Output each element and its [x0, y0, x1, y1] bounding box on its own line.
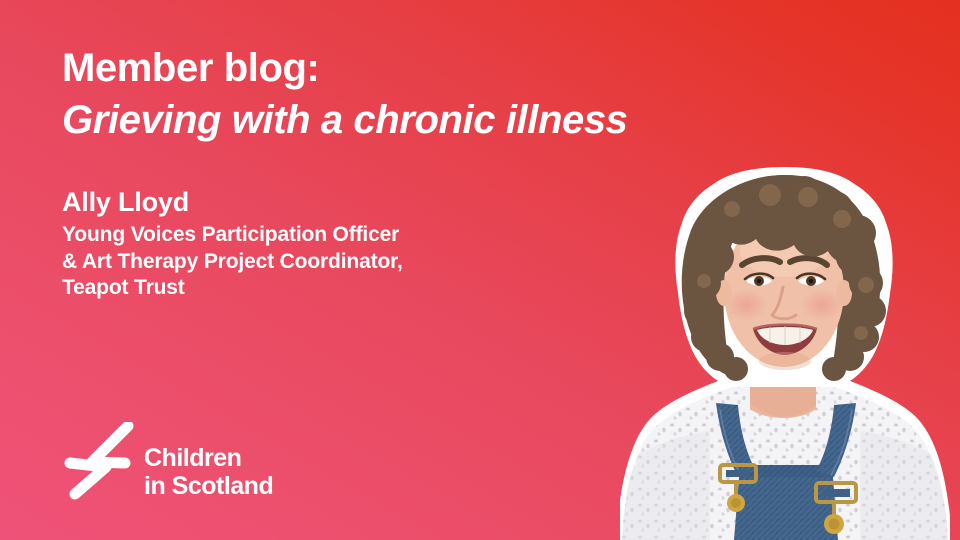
portrait-curly-hair — [684, 175, 886, 381]
logo-wordmark: Children in Scotland — [144, 446, 273, 499]
author-role-line1: Young Voices Participation Officer — [62, 222, 702, 249]
author-name: Ally Lloyd — [62, 187, 702, 218]
author-role-line2: & Art Therapy Project Coordinator, — [62, 249, 702, 276]
portrait-body — [620, 380, 950, 540]
page-title-line2: Grieving with a chronic illness — [62, 98, 702, 143]
text-block: Member blog: Grieving with a chronic ill… — [62, 46, 702, 302]
dungaree-buckle-left — [720, 465, 756, 512]
logo-wordmark-line1: Children — [144, 446, 273, 471]
page-title-line1: Member blog: — [62, 46, 702, 91]
member-blog-banner: Member blog: Grieving with a chronic ill… — [0, 0, 960, 540]
chevron-mark-icon — [62, 422, 140, 500]
logo-wordmark-line2: in Scotland — [144, 474, 273, 499]
author-role: Young Voices Participation Officer & Art… — [62, 222, 702, 303]
author-role-line3: Teapot Trust — [62, 275, 702, 302]
portrait-head — [682, 175, 886, 381]
dungaree-buckle-right — [816, 483, 856, 534]
children-in-scotland-logo: Children in Scotland — [62, 418, 272, 504]
